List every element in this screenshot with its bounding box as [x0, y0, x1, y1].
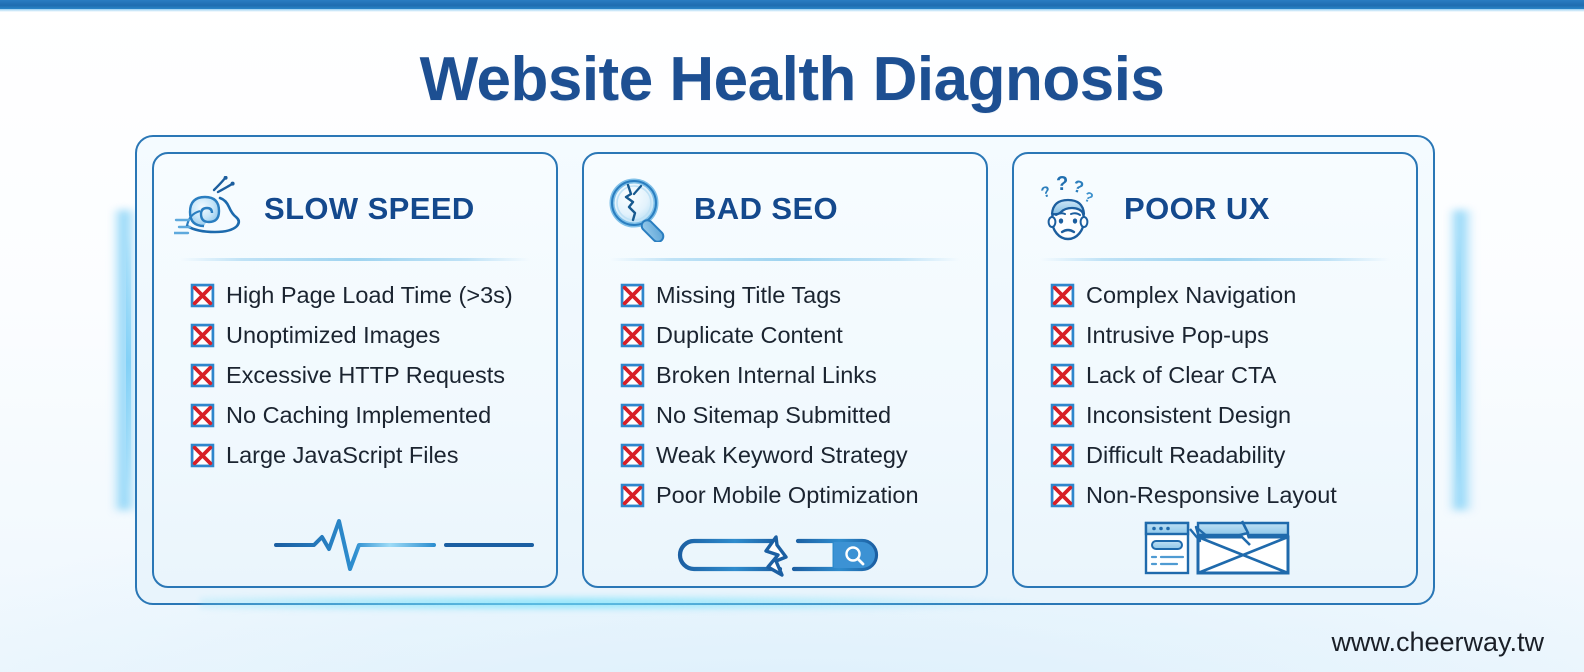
list-item-label: Large JavaScript Files — [226, 442, 459, 469]
svg-text:?: ? — [1056, 176, 1068, 195]
page-title: Website Health Diagnosis — [0, 44, 1584, 115]
issue-list: Missing Title Tags Duplicate Content Bro… — [584, 275, 986, 515]
list-item-label: Weak Keyword Strategy — [656, 442, 908, 469]
list-item-label: Missing Title Tags — [656, 282, 841, 309]
red-x-in-blue-box-icon — [620, 283, 645, 308]
snail-icon — [174, 176, 250, 242]
card-header: ? ? ? ? POOR UX — [1014, 154, 1416, 246]
list-item-label: Broken Internal Links — [656, 362, 877, 389]
list-item-label: Excessive HTTP Requests — [226, 362, 505, 389]
list-item: Complex Navigation — [1050, 275, 1406, 315]
red-x-in-blue-box-icon — [1050, 363, 1075, 388]
list-item: High Page Load Time (>3s) — [190, 275, 546, 315]
cracked-magnifier-icon — [604, 176, 680, 242]
list-item-label: Unoptimized Images — [226, 322, 440, 349]
red-x-in-blue-box-icon — [190, 443, 215, 468]
list-item-label: Complex Navigation — [1086, 282, 1296, 309]
frame-bottom-glow — [200, 596, 1380, 610]
right-glow-line — [1456, 235, 1461, 490]
card-decoration — [584, 504, 986, 578]
list-item: No Caching Implemented — [190, 395, 546, 435]
card-title: SLOW SPEED — [264, 191, 475, 227]
svg-text:?: ? — [1039, 183, 1053, 202]
red-x-in-blue-box-icon — [620, 323, 645, 348]
list-item-label: Inconsistent Design — [1086, 402, 1291, 429]
red-x-in-blue-box-icon — [620, 403, 645, 428]
list-item-label: No Caching Implemented — [226, 402, 491, 429]
card-header: BAD SEO — [584, 154, 986, 246]
red-x-in-blue-box-icon — [1050, 283, 1075, 308]
red-x-in-blue-box-icon — [1050, 403, 1075, 428]
card-poor-ux[interactable]: ? ? ? ? POOR UX — [1012, 152, 1418, 588]
list-item: Inconsistent Design — [1050, 395, 1406, 435]
left-glow-line — [126, 235, 131, 490]
red-x-in-blue-box-icon — [1050, 443, 1075, 468]
card-title: POOR UX — [1124, 191, 1270, 227]
card-decoration — [154, 504, 556, 578]
list-item: Difficult Readability — [1050, 435, 1406, 475]
list-item: Duplicate Content — [620, 315, 976, 355]
red-x-in-blue-box-icon — [1050, 323, 1075, 348]
right-glow-streak — [1448, 210, 1474, 510]
list-item: Broken Internal Links — [620, 355, 976, 395]
svg-text:?: ? — [1082, 188, 1096, 206]
top-accent-bar — [0, 0, 1584, 9]
list-item: Large JavaScript Files — [190, 435, 546, 475]
card-slow-speed[interactable]: SLOW SPEED High Page Load Time (>3s) Uno… — [152, 152, 558, 588]
list-item-label: Duplicate Content — [656, 322, 843, 349]
list-item-label: No Sitemap Submitted — [656, 402, 891, 429]
card-header: SLOW SPEED — [154, 154, 556, 246]
list-item: Intrusive Pop-ups — [1050, 315, 1406, 355]
list-item: Excessive HTTP Requests — [190, 355, 546, 395]
list-item: No Sitemap Submitted — [620, 395, 976, 435]
cards-row: SLOW SPEED High Page Load Time (>3s) Uno… — [152, 152, 1418, 588]
red-x-in-blue-box-icon — [620, 443, 645, 468]
broken-search-bar-icon — [672, 533, 884, 584]
list-item-label: High Page Load Time (>3s) — [226, 282, 513, 309]
red-x-in-blue-box-icon — [190, 363, 215, 388]
card-divider — [610, 258, 960, 261]
confused-face-icon: ? ? ? ? — [1034, 176, 1110, 242]
card-divider — [180, 258, 530, 261]
red-x-in-blue-box-icon — [190, 403, 215, 428]
card-decoration — [1014, 504, 1416, 578]
card-title: BAD SEO — [694, 191, 838, 227]
list-item: Weak Keyword Strategy — [620, 435, 976, 475]
red-x-in-blue-box-icon — [190, 283, 215, 308]
issue-list: High Page Load Time (>3s) Unoptimized Im… — [154, 275, 556, 475]
list-item: Unoptimized Images — [190, 315, 546, 355]
top-accent-glow — [0, 9, 1584, 12]
card-bad-seo[interactable]: BAD SEO Missing Title Tags Duplicate Con… — [582, 152, 988, 588]
issue-list: Complex Navigation Intrusive Pop-ups Lac… — [1014, 275, 1416, 515]
footer-website-url[interactable]: www.cheerway.tw — [1331, 627, 1544, 658]
red-x-in-blue-box-icon — [620, 363, 645, 388]
heartbeat-line-icon — [274, 515, 534, 576]
list-item-label: Intrusive Pop-ups — [1086, 322, 1269, 349]
svg-text:?: ? — [1071, 176, 1086, 197]
list-item: Missing Title Tags — [620, 275, 976, 315]
list-item-label: Lack of Clear CTA — [1086, 362, 1276, 389]
list-item-label: Difficult Readability — [1086, 442, 1285, 469]
infographic-stage: Website Health Diagnosis — [0, 0, 1584, 672]
card-divider — [1040, 258, 1390, 261]
red-x-in-blue-box-icon — [190, 323, 215, 348]
broken-wireframe-icon — [1142, 515, 1302, 582]
list-item: Lack of Clear CTA — [1050, 355, 1406, 395]
